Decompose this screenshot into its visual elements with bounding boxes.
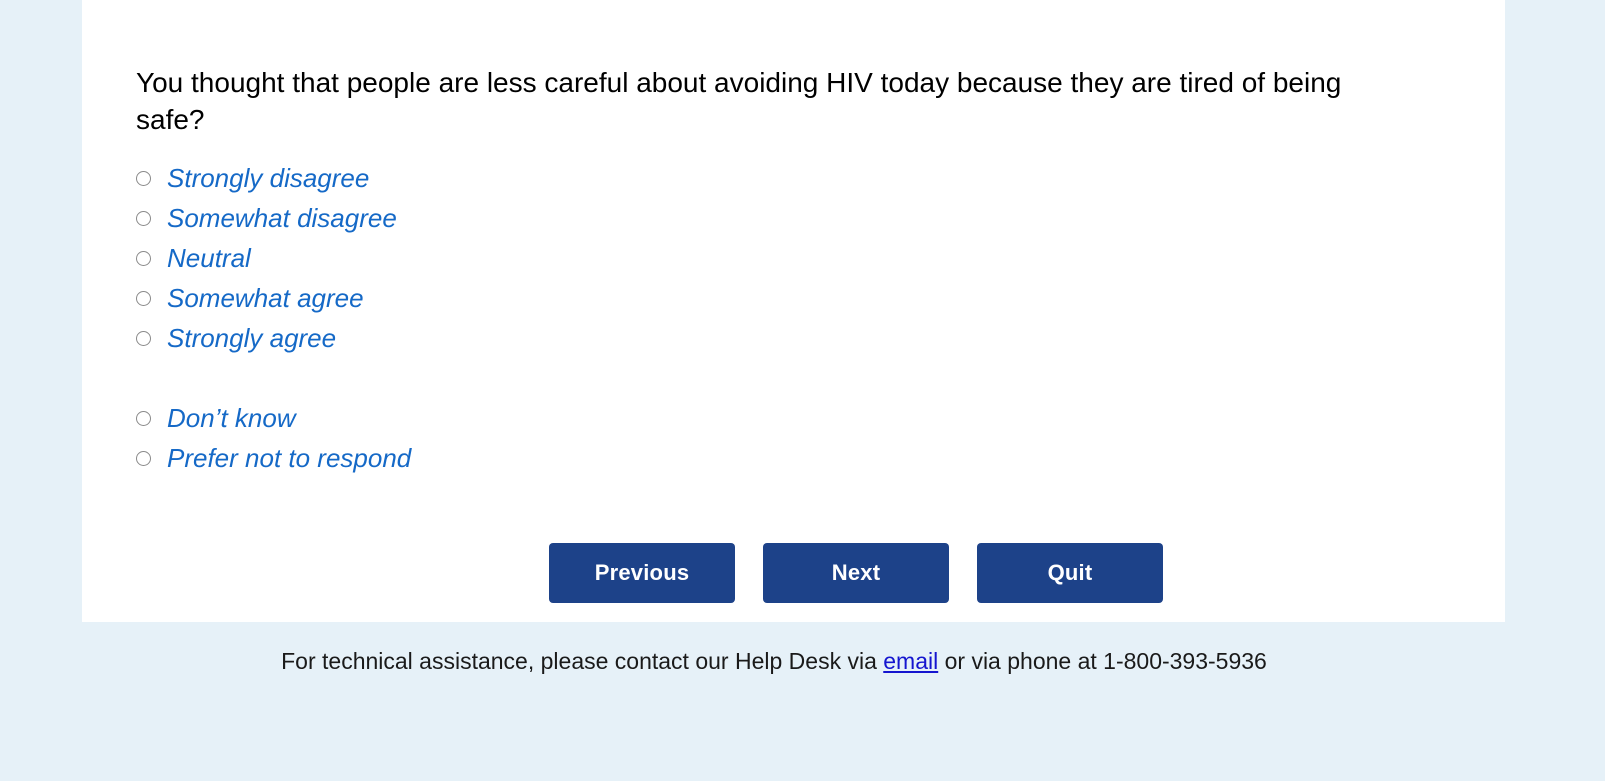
option-row-dont-know[interactable]: Don’t know [136,398,936,438]
option-label: Somewhat disagree [167,205,397,231]
option-label: Neutral [167,245,251,271]
radio-icon[interactable] [136,211,151,226]
option-label: Strongly agree [167,325,336,351]
navigation-button-bar: Previous Next Quit [549,543,1163,603]
survey-page: You thought that people are less careful… [0,0,1605,781]
option-label: Prefer not to respond [167,445,411,471]
radio-icon[interactable] [136,171,151,186]
option-label: Somewhat agree [167,285,364,311]
page-footer: For technical assistance, please contact… [0,622,1605,781]
option-row-somewhat-agree[interactable]: Somewhat agree [136,278,936,318]
option-row-neutral[interactable]: Neutral [136,238,936,278]
next-button[interactable]: Next [763,543,949,603]
options-list: Strongly disagree Somewhat disagree Neut… [136,158,936,478]
help-desk-text-before: For technical assistance, please contact… [281,648,883,674]
help-desk-text-after: or via phone at 1-800-393-5936 [938,648,1267,674]
option-row-prefer-not-to-respond[interactable]: Prefer not to respond [136,438,936,478]
radio-icon[interactable] [136,411,151,426]
option-row-strongly-disagree[interactable]: Strongly disagree [136,158,936,198]
survey-card: You thought that people are less careful… [82,0,1505,622]
radio-icon[interactable] [136,331,151,346]
option-row-strongly-agree[interactable]: Strongly agree [136,318,936,358]
previous-button[interactable]: Previous [549,543,735,603]
option-row-somewhat-disagree[interactable]: Somewhat disagree [136,198,936,238]
option-label: Don’t know [167,405,296,431]
radio-icon[interactable] [136,451,151,466]
help-desk-text: For technical assistance, please contact… [0,648,1548,675]
email-link[interactable]: email [883,648,938,674]
option-label: Strongly disagree [167,165,369,191]
radio-icon[interactable] [136,251,151,266]
quit-button[interactable]: Quit [977,543,1163,603]
question-text: You thought that people are less careful… [136,64,1406,138]
radio-icon[interactable] [136,291,151,306]
